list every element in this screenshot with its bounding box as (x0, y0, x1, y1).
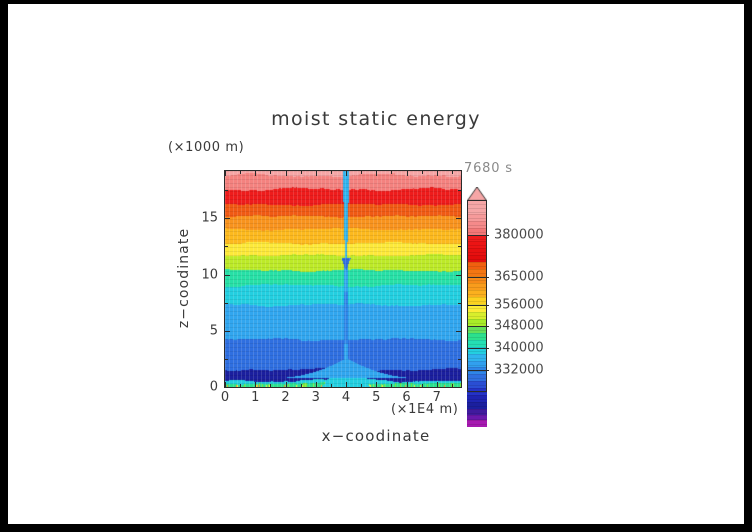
colorbar-label: 365000 (494, 269, 544, 284)
y-tick-minor (225, 359, 228, 360)
x-tick-label: 5 (372, 390, 380, 405)
y-tick-label: 15 (201, 211, 218, 226)
y-tick-major-right (456, 275, 461, 276)
colorbar-label: 348000 (494, 318, 544, 333)
y-tick-major-right (456, 387, 461, 388)
colorbar-label: 356000 (494, 297, 544, 312)
x-tick-minor (331, 384, 332, 387)
x-tick-major-top (346, 171, 347, 176)
colorbar-level-rule (467, 277, 489, 278)
x-tick-major-top (255, 171, 256, 176)
x-tick-minor-top (361, 171, 362, 174)
x-tick-label: 4 (342, 390, 350, 405)
x-tick-minor (240, 384, 241, 387)
y-tick-major (225, 275, 230, 276)
y-tick-minor-right (458, 246, 461, 247)
x-tick-major (437, 382, 438, 387)
x-tick-minor-top (270, 171, 271, 174)
y-tick-major-right (456, 218, 461, 219)
colorbar-level-rule (467, 348, 489, 349)
y-tick-minor (225, 190, 228, 191)
moist-static-energy-field (225, 171, 461, 387)
x-tick-label: 1 (251, 390, 259, 405)
x-tick-major (407, 382, 408, 387)
y-tick-minor (225, 303, 228, 304)
x-tick-major-top (225, 171, 226, 176)
x-tick-minor (452, 384, 453, 387)
z-axis-unit-caption: (×1000 m) (168, 140, 244, 155)
y-axis-title: z−coodinate (176, 228, 192, 328)
x-tick-minor (391, 384, 392, 387)
x-tick-minor-top (240, 171, 241, 174)
contour-plot-area[interactable] (224, 170, 462, 388)
y-tick-label: 0 (210, 380, 218, 395)
y-tick-major (225, 331, 230, 332)
colorbar[interactable] (467, 200, 487, 392)
x-tick-minor-top (301, 171, 302, 174)
y-tick-major-right (456, 331, 461, 332)
x-tick-major-top (437, 171, 438, 176)
x-tick-major (376, 382, 377, 387)
y-tick-major (225, 218, 230, 219)
x-tick-major-top (376, 171, 377, 176)
timestamp-label: 7680 s (464, 161, 513, 176)
x-tick-major-top (286, 171, 287, 176)
x-tick-major (286, 382, 287, 387)
colorbar-segment (467, 200, 487, 214)
x-axis-title: x−coodinate (8, 427, 744, 445)
x-tick-major (255, 382, 256, 387)
y-tick-minor-right (458, 359, 461, 360)
x-tick-minor-top (331, 171, 332, 174)
y-tick-minor-right (458, 190, 461, 191)
x-tick-minor-top (391, 171, 392, 174)
x-tick-major-top (316, 171, 317, 176)
colorbar-segment (467, 420, 487, 427)
colorbar-label: 332000 (494, 362, 544, 377)
colorbar-label: 340000 (494, 340, 544, 355)
colorbar-extend-arrow (467, 187, 487, 201)
y-tick-label: 10 (201, 267, 218, 282)
x-tick-minor-top (422, 171, 423, 174)
colorbar-level-rule (467, 326, 489, 327)
x-tick-major (316, 382, 317, 387)
x-tick-major-top (407, 171, 408, 176)
page-title: moist static energy (8, 108, 744, 130)
x-axis-unit-caption: (×1E4 m) (391, 402, 458, 417)
x-tick-minor (270, 384, 271, 387)
x-tick-major (346, 382, 347, 387)
colorbar-level-rule (467, 370, 489, 371)
y-tick-major (225, 387, 230, 388)
y-tick-label: 5 (210, 323, 218, 338)
x-tick-minor (301, 384, 302, 387)
colorbar-level-rule (467, 235, 489, 236)
x-tick-label: 3 (312, 390, 320, 405)
figure-canvas: moist static energy (×1000 m) 7680 s 012… (8, 4, 744, 524)
colorbar-label: 380000 (494, 227, 544, 242)
x-tick-minor (361, 384, 362, 387)
y-tick-minor (225, 246, 228, 247)
x-tick-label: 2 (281, 390, 289, 405)
x-tick-label: 0 (221, 390, 229, 405)
x-tick-minor (422, 384, 423, 387)
x-tick-minor-top (452, 171, 453, 174)
y-tick-minor-right (458, 303, 461, 304)
colorbar-level-rule (467, 305, 489, 306)
